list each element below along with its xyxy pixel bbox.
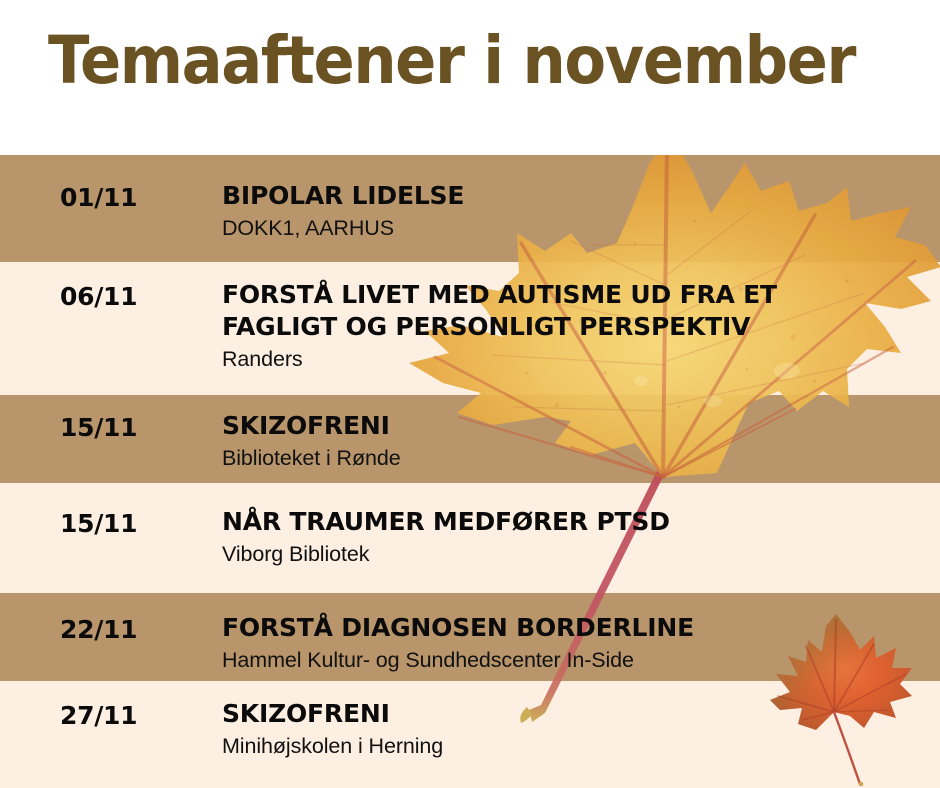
event-title: NÅR TRAUMER MEDFØRER PTSD (222, 506, 930, 538)
event-venue: Randers (222, 346, 930, 373)
event-date: 22/11 (60, 615, 137, 644)
event-venue: Hammel Kultur- og Sundhedscenter In-Side (222, 647, 930, 674)
event-venue: DOKK1, AARHUS (222, 215, 930, 242)
event-body: NÅR TRAUMER MEDFØRER PTSD Viborg Bibliot… (222, 506, 930, 568)
event-title: FORSTÅ DIAGNOSEN BORDERLINE (222, 612, 930, 644)
event-title: SKIZOFRENI (222, 698, 930, 730)
poster-header: Temaaftener i november (0, 0, 940, 155)
poster-canvas: Temaaftener i november 01/11 BIPOLAR LID… (0, 0, 940, 788)
page-title: Temaaftener i november (48, 28, 855, 94)
event-body: FORSTÅ LIVET MED AUTISME UD FRA ET FAGLI… (222, 279, 930, 373)
event-date: 06/11 (60, 282, 137, 311)
event-body: FORSTÅ DIAGNOSEN BORDERLINE Hammel Kultu… (222, 612, 930, 674)
event-title: SKIZOFRENI (222, 410, 930, 442)
event-body: SKIZOFRENI Minihøjskolen i Herning (222, 698, 930, 760)
event-date: 27/11 (60, 701, 137, 730)
event-venue: Minihøjskolen i Herning (222, 733, 930, 760)
event-title: BIPOLAR LIDELSE (222, 180, 930, 212)
event-venue: Biblioteket i Rønde (222, 445, 930, 472)
event-venue: Viborg Bibliotek (222, 541, 930, 568)
event-title: FORSTÅ LIVET MED AUTISME UD FRA ET FAGLI… (222, 279, 930, 343)
event-body: BIPOLAR LIDELSE DOKK1, AARHUS (222, 180, 930, 242)
event-body: SKIZOFRENI Biblioteket i Rønde (222, 410, 930, 472)
event-date: 15/11 (60, 413, 137, 442)
event-date: 01/11 (60, 183, 137, 212)
event-date: 15/11 (60, 509, 137, 538)
